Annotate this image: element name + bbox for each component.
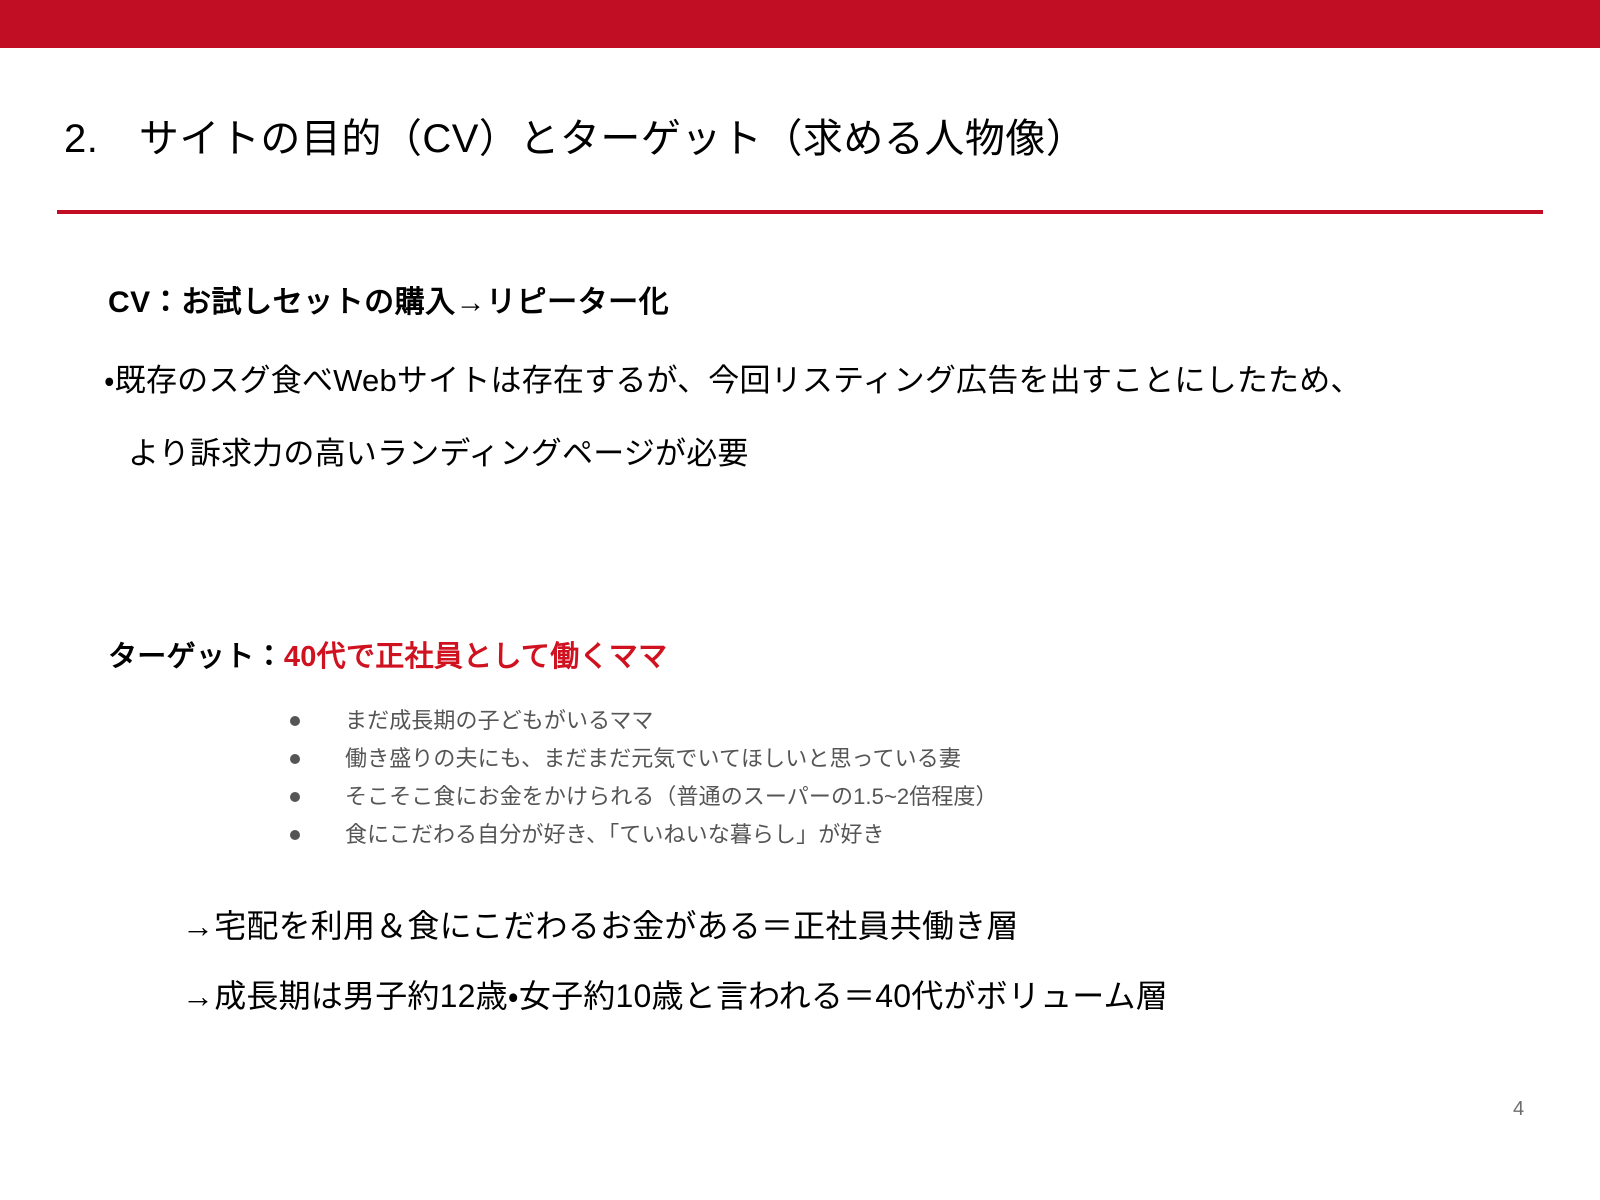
slide: 2. サイトの目的（CV）とターゲット（求める人物像） CV：お試しセットの購入… [0, 0, 1600, 1200]
list-item: 働き盛りの夫にも、まだまだ元気でいてほしいと思っている妻 [282, 740, 998, 778]
list-item: そこそこ食にお金をかけられる（普通のスーパーの1.5~2倍程度） [282, 778, 998, 816]
cv-body-line-2: より訴求力の高いランディングページが必要 [128, 428, 749, 473]
title-underline-rule [57, 210, 1543, 214]
target-heading-label: ターゲット： [108, 641, 284, 673]
conclusion-line-1: →宅配を利用＆食にこだわるお金がある＝正社員共働き層 [182, 901, 1019, 947]
list-item-label: まだ成長期の子どもがいるママ [345, 708, 654, 733]
target-heading: ターゲット：40代で正社員として働くママ [108, 633, 667, 675]
cv-heading: CV：お試しセットの購入→リピーター化 [108, 277, 669, 321]
conclusion-line-2: →成長期は男子約12歳・女子約10歳と言われる＝40代がボリューム層 [182, 971, 1168, 1017]
bullet-dot-icon [290, 754, 300, 764]
list-item: まだ成長期の子どもがいるママ [282, 702, 998, 740]
bullet-dot-icon [290, 830, 300, 840]
target-bullet-list: まだ成長期の子どもがいるママ 働き盛りの夫にも、まだまだ元気でいてほしいと思って… [282, 702, 998, 854]
page-title: 2. サイトの目的（CV）とターゲット（求める人物像） [64, 115, 1086, 163]
page-number: 4 [1513, 1098, 1524, 1121]
list-item: 食にこだわる自分が好き、「ていねいな暮らし」が好き [282, 816, 998, 854]
list-item-label: 働き盛りの夫にも、まだまだ元気でいてほしいと思っている妻 [345, 746, 961, 771]
bullet-dot-icon [290, 716, 300, 726]
target-heading-value: 40代で正社員として働くママ [284, 641, 668, 673]
bullet-dot-icon [290, 792, 300, 802]
list-item-label: 食にこだわる自分が好き、「ていねいな暮らし」が好き [345, 822, 885, 847]
top-accent-band [0, 0, 1600, 48]
cv-body-line-1: ・既存のスグ食べWebサイトは存在するが、今回リスティング広告を出すことにしたた… [104, 355, 1362, 400]
list-item-label: そこそこ食にお金をかけられる（普通のスーパーの1.5~2倍程度） [345, 784, 998, 809]
